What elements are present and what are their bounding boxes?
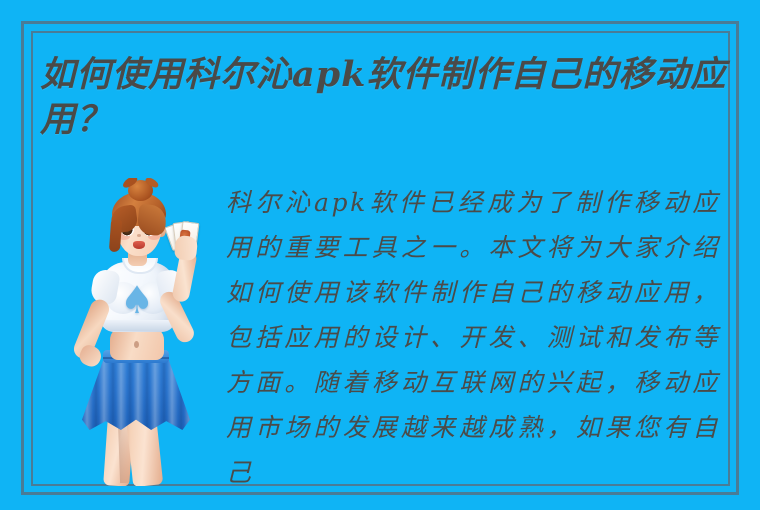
tshirt-hem	[102, 320, 174, 331]
hand-right	[174, 235, 198, 261]
page-title: 如何使用科尔沁apk软件制作自己的移动应用？	[40, 52, 730, 142]
character-illustration: ♠	[56, 178, 226, 486]
navel	[134, 341, 139, 348]
skirt-pleats	[82, 356, 190, 430]
spade-icon: ♠	[119, 282, 155, 318]
mouth	[133, 241, 145, 249]
article-body-text: 科尔沁apk软件已经成为了制作移动应用的重要工具之一。本文将为大家介绍如何使用该…	[226, 180, 720, 495]
nose	[137, 234, 141, 237]
poster-canvas: 如何使用科尔沁apk软件制作自己的移动应用？ 科尔沁apk软件已经成为了制作移动…	[0, 0, 760, 510]
hair-side-lock	[109, 220, 122, 253]
